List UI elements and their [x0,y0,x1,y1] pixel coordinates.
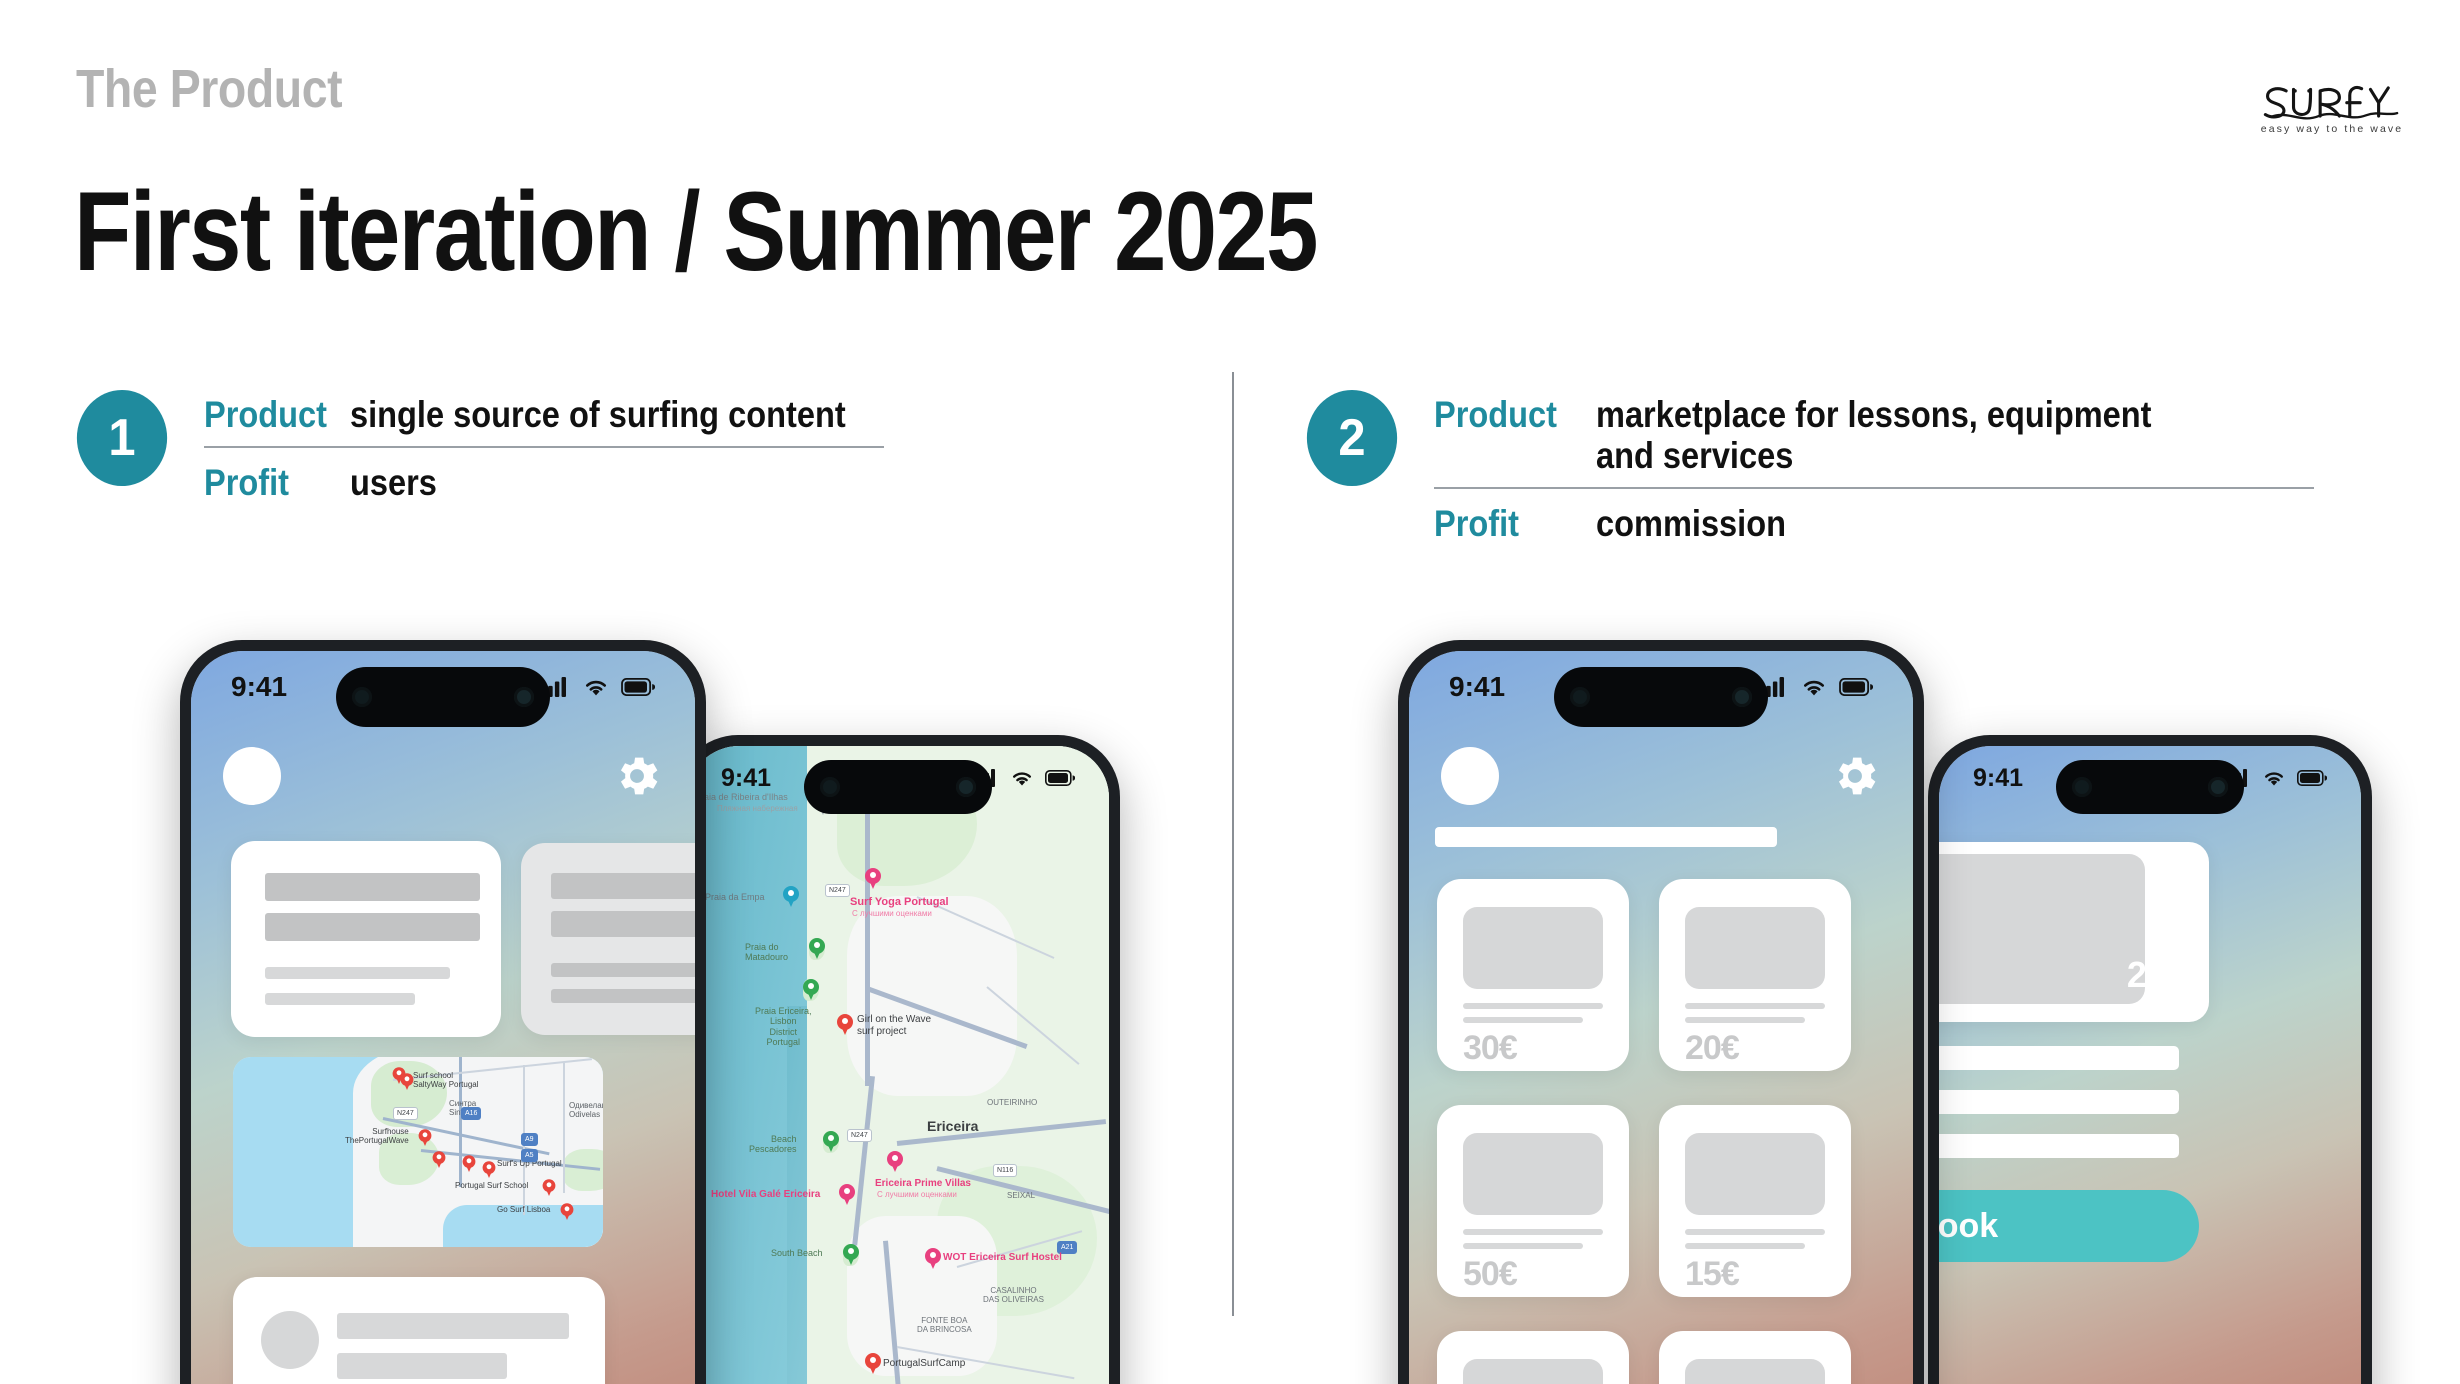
map-pin-label: Surf Yoga Portugal [850,896,949,909]
skeleton-line [1685,1017,1805,1023]
map-pin-label: PortugalSurfCamp [883,1358,965,1370]
wifi-icon [582,677,610,697]
app-bar [191,737,695,815]
map-label: Одивелаш Odivelas [569,1101,603,1119]
road-badge: A5 [521,1149,538,1162]
ericeira-map[interactable]: Praia de Ribeira d'Ilhas Пляжная набереж… [687,746,1109,1384]
product-card[interactable]: 50€ [1437,1105,1629,1297]
hero-card[interactable]: 20€ [1939,842,2209,1022]
map-label: OUTEIRINHO [987,1098,1037,1107]
map-pin[interactable] [433,1151,446,1169]
status-time: 9:41 [721,764,771,793]
road-badge: N247 [847,1129,872,1142]
product-value: marketplace for lessons, equipment and s… [1596,394,2177,477]
map-label: Portugal Surf School [455,1181,528,1190]
skeleton-line [337,1313,569,1339]
logo-tagline: easy way to the wave [2252,123,2412,135]
product-thumbnail [1463,907,1603,989]
value-block-1: 1 Product single source of surfing conte… [74,390,1184,504]
detail-title-bar [1939,1046,2179,1070]
slide-headline: First iteration / Summer 2025 [74,176,1317,288]
profit-value: commission [1596,503,1786,544]
map-pin[interactable] [865,1353,881,1375]
value-block-2: 2 Product marketplace for lessons, equip… [1304,390,2414,545]
status-time: 9:41 [231,671,287,703]
app-bar [1409,737,1913,815]
front-camera-icon [1570,687,1590,707]
product-price: 20€ [1685,1029,1739,1068]
map-label: Ericeira [927,1118,978,1134]
status-icons [541,677,655,697]
front-camera-icon [820,777,840,797]
profit-label: Profit [1434,503,1566,545]
map-pin[interactable] [463,1155,476,1173]
product-thumbnail [1685,907,1825,989]
map-pin-label: WOT Ericeira Surf Hostel [943,1252,1062,1264]
phone-mockup-map: Praia de Ribeira d'Ilhas Пляжная набереж… [676,735,1120,1384]
product-thumbnail [1685,1359,1825,1384]
skeleton-line [1463,1229,1603,1235]
product-label: Product [204,394,322,436]
skeleton-line [1685,1229,1825,1235]
phone-screen: 9:41 [191,651,695,1384]
profit-label: Profit [204,462,322,504]
wifi-icon [1010,769,1034,787]
map-pin[interactable] [865,868,881,890]
phone-mockup-detail: 9:41 [1928,735,2372,1384]
map-label: South Beach [771,1248,823,1258]
map-pin-sublabel: С лучшими оценками [877,1190,957,1199]
block-number-badge: 1 [77,390,167,486]
product-thumbnail [1685,1133,1825,1215]
profit-row: Profit users [204,460,1184,504]
dynamic-island [804,760,992,814]
skeleton-line [1685,1243,1805,1249]
product-thumbnail [1463,1359,1603,1384]
map-pin[interactable] [837,1014,853,1036]
slide-canvas: The Product First iteration / Summer 202… [0,0,2460,1384]
battery-icon [1045,770,1075,786]
dynamic-island [2056,760,2244,814]
map-label: CASALINHO DAS OLIVEIRAS [983,1286,1044,1304]
profit-value: users [350,462,437,503]
road-badge: N247 [825,884,850,897]
map-pin-sublabel: С лучшими оценками [852,909,932,918]
product-price: 50€ [1463,1255,1517,1294]
map-pin[interactable] [483,1161,496,1179]
map-pin[interactable] [839,1184,855,1206]
product-label: Product [1434,394,1566,436]
battery-icon [1839,678,1873,696]
face-id-sensor-icon [1732,687,1752,707]
map-pin[interactable] [543,1179,556,1197]
block-number-badge: 2 [1307,390,1397,486]
product-thumbnail [1463,1133,1603,1215]
skeleton-line [265,967,450,979]
row-divider [204,446,884,448]
avatar[interactable] [1441,747,1499,805]
map-label: Praia da Empa [705,892,765,902]
map-pin[interactable] [401,1073,414,1091]
face-id-sensor-icon [956,777,976,797]
map-pin-label: Ericeira Prime Villas [875,1178,971,1190]
road-badge: N116 [993,1164,1017,1177]
map-label: Surfhouse ThePortugalWave [345,1127,409,1145]
product-card[interactable]: 30€ [1437,879,1629,1071]
product-card[interactable] [1659,1331,1851,1384]
map-pin[interactable] [925,1248,941,1270]
lisbon-map-card[interactable]: Surf school SaltyWay Portugal Синтра Sin… [233,1057,603,1247]
map-label: FONTE BOA DA BRINCOSA [917,1316,972,1334]
skeleton-line [551,911,695,937]
map-pin[interactable] [887,1151,903,1173]
avatar [261,1311,319,1369]
front-camera-icon [352,687,372,707]
profit-row: Profit commission [1434,501,2414,545]
surfy-logo: easy way to the wave [2252,82,2412,135]
skeleton-line [265,913,480,941]
gear-icon[interactable] [611,750,663,802]
content-card[interactable] [521,843,695,1035]
battery-icon [2297,770,2327,786]
wifi-icon [2262,769,2286,787]
skeleton-line [265,873,480,901]
skeleton-line [551,989,695,1003]
product-price: 15€ [1685,1255,1739,1294]
skeleton-line [551,963,695,977]
map-label: Go Surf Lisboa [497,1205,550,1214]
skeleton-line [337,1353,507,1379]
local-road [563,1063,565,1193]
row-divider [1434,487,2314,489]
map-label: Praia do Matadouro [745,942,788,963]
product-price: 30€ [1463,1029,1517,1068]
product-row: Product marketplace for lessons, equipme… [1434,394,2414,477]
product-card[interactable]: 20€ [1659,879,1851,1071]
map-pin[interactable] [561,1203,574,1221]
map-label: Praia Ericeira, Lisbon District Portugal [755,1006,812,1047]
face-id-sensor-icon [2208,777,2228,797]
skeleton-line [1463,1017,1583,1023]
search-bar[interactable] [1435,827,1777,847]
highway [865,786,870,1086]
skeleton-line [1463,1003,1603,1009]
road-badge: N247 [393,1107,418,1120]
dynamic-island [336,667,550,727]
phone-mockup-feed: 9:41 [180,640,706,1384]
phone-screen: Praia de Ribeira d'Ilhas Пляжная набереж… [687,746,1109,1384]
phone-screen: 9:41 [1939,746,2361,1384]
block-rows: Product marketplace for lessons, equipme… [1434,390,2414,545]
block-rows: Product single source of surfing content… [204,390,1184,504]
column-divider [1232,372,1234,1316]
dynamic-island [1554,667,1768,727]
gear-icon[interactable] [1829,750,1881,802]
face-id-sensor-icon [514,687,534,707]
product-card[interactable] [1437,1331,1629,1384]
product-card[interactable]: 15€ [1659,1105,1851,1297]
status-time: 9:41 [1973,764,2023,793]
skeleton-line [551,873,695,899]
content-card[interactable] [231,841,501,1037]
hero-price: 20€ [2127,954,2187,996]
map-pin-label: Hotel Vila Galé Ericeira [711,1189,820,1201]
map-label: SEIXAL [1007,1191,1035,1200]
map-label: Surf school SaltyWay Portugal [413,1071,479,1089]
slide-eyebrow: The Product [76,58,342,120]
product-row: Product single source of surfing content [204,394,1184,436]
skeleton-line [1463,1243,1583,1249]
skeleton-line [265,993,415,1005]
status-icons [1759,677,1873,697]
wifi-icon [1800,677,1828,697]
book-button[interactable]: book [1939,1190,2199,1262]
front-camera-icon [2072,777,2092,797]
status-time: 9:41 [1449,671,1505,703]
phone-mockup-catalog: 9:41 [1398,640,1924,1384]
road-badge: A9 [521,1133,538,1146]
phone-screen: 9:41 [1409,651,1913,1384]
map-label: Beach Pescadores [749,1134,797,1155]
skeleton-line [1685,1003,1825,1009]
battery-icon [621,678,655,696]
surfy-wordmark-icon [2258,82,2406,122]
detail-subtitle-bar [1939,1090,2179,1114]
product-value: single source of surfing content [350,394,846,435]
detail-meta-bar [1939,1134,2179,1158]
avatar[interactable] [223,747,281,805]
map-pin[interactable] [419,1129,432,1147]
urban-area [847,896,1017,1096]
list-item-card[interactable] [233,1277,605,1384]
road-badge: A16 [461,1107,481,1120]
hero-image-placeholder [1939,854,2145,1004]
map-pin-label: Girl on the Wave surf project [857,1014,931,1037]
map-pin[interactable] [783,886,799,908]
book-button-label: book [1939,1207,1998,1246]
